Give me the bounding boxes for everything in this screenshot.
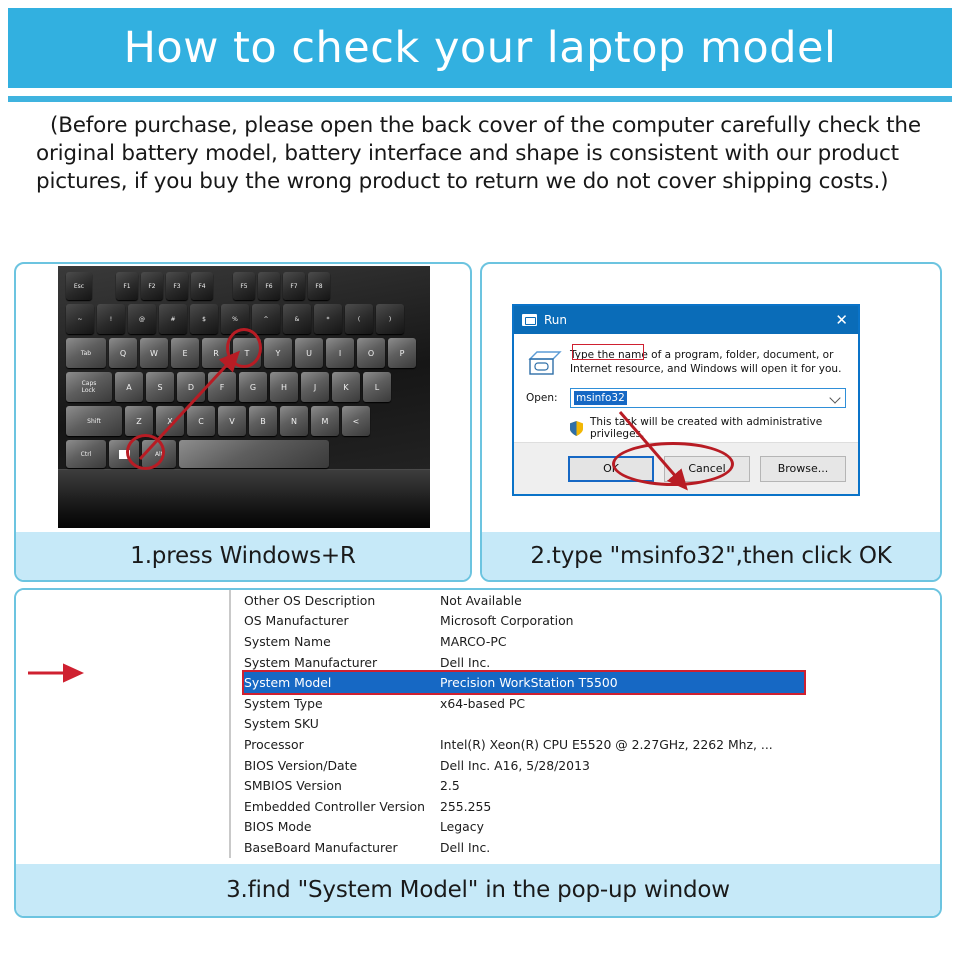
sysinfo-window: Other OS DescriptionNot AvailableOS Manu… bbox=[16, 590, 940, 864]
sysinfo-item-label: SMBIOS Version bbox=[244, 778, 440, 793]
key-u: U bbox=[295, 338, 323, 368]
keyboard-function-row: Esc F1 F2 F3 F4 F5 F6 F7 F8 bbox=[66, 272, 330, 300]
run-dialog: Run ✕ Type the name of a program, folder… bbox=[512, 304, 860, 496]
intro-text: (Before purchase, please open the back c… bbox=[36, 113, 921, 194]
key-f8: F8 bbox=[308, 272, 330, 300]
sysinfo-row[interactable]: OS ManufacturerMicrosoft Corporation bbox=[244, 611, 930, 632]
sysinfo-item-value: Precision WorkStation T5500 bbox=[440, 675, 618, 690]
key-shift: Shift bbox=[66, 406, 122, 436]
ok-button[interactable]: OK bbox=[568, 456, 654, 482]
key-tilde: ~ bbox=[66, 304, 94, 334]
sysinfo-item-value: Legacy bbox=[440, 819, 484, 834]
run-dialog-title: Run bbox=[544, 313, 567, 327]
open-combobox[interactable]: msinfo32 bbox=[570, 388, 846, 408]
cancel-button[interactable]: Cancel bbox=[664, 456, 750, 482]
key-6: ^ bbox=[252, 304, 280, 334]
sysinfo-item-value: Dell Inc. bbox=[440, 840, 490, 855]
close-icon[interactable]: ✕ bbox=[835, 310, 848, 330]
sysinfo-item-label: Embedded Controller Version bbox=[244, 799, 440, 814]
uac-text: This task will be created with administr… bbox=[590, 416, 846, 440]
step-2-image-area: Run ✕ Type the name of a program, folder… bbox=[482, 264, 940, 532]
key-esc: Esc bbox=[66, 272, 92, 300]
run-dialog-titlebar: Run ✕ bbox=[514, 306, 858, 334]
key-f2: F2 bbox=[141, 272, 163, 300]
key-o: O bbox=[357, 338, 385, 368]
sysinfo-item-value: Intel(R) Xeon(R) CPU E5520 @ 2.27GHz, 22… bbox=[440, 737, 773, 752]
key-j: J bbox=[301, 372, 329, 402]
run-program-icon bbox=[528, 350, 562, 376]
key-caps-lock: CapsLock bbox=[66, 372, 112, 402]
step-1-panel: Esc F1 F2 F3 F4 F5 F6 F7 F8 ~ ! @ # $ % bbox=[14, 262, 472, 582]
run-open-row: Open: msinfo32 bbox=[526, 388, 846, 408]
step-1-caption: 1.press Windows+R bbox=[16, 532, 470, 580]
sysinfo-row[interactable]: SMBIOS Version2.5 bbox=[244, 775, 930, 796]
key-5: % bbox=[221, 304, 249, 334]
page-title: How to check your laptop model bbox=[124, 27, 837, 70]
sysinfo-item-label: Other OS Description bbox=[244, 593, 440, 608]
key-tab: Tab bbox=[66, 338, 106, 368]
key-y: Y bbox=[264, 338, 292, 368]
keyboard-photo: Esc F1 F2 F3 F4 F5 F6 F7 F8 ~ ! @ # $ % bbox=[58, 266, 430, 528]
sysinfo-row[interactable]: BaseBoard ManufacturerDell Inc. bbox=[244, 837, 930, 858]
sysinfo-item-value: 2.5 bbox=[440, 778, 460, 793]
sysinfo-item-value: 255.255 bbox=[440, 799, 491, 814]
key-k: K bbox=[332, 372, 360, 402]
step-2-panel: Run ✕ Type the name of a program, folder… bbox=[480, 262, 942, 582]
run-dialog-content: Type the name of a program, folder, docu… bbox=[514, 334, 858, 440]
run-icon bbox=[522, 314, 537, 326]
key-f5: F5 bbox=[233, 272, 255, 300]
key-p: P bbox=[388, 338, 416, 368]
annotation-arrow-system-model bbox=[26, 662, 88, 684]
sysinfo-item-value: Not Available bbox=[440, 593, 522, 608]
sysinfo-item-value: Dell Inc. bbox=[440, 655, 490, 670]
key-2: @ bbox=[128, 304, 156, 334]
shield-icon bbox=[570, 421, 583, 436]
key-ctrl: Ctrl bbox=[66, 440, 106, 468]
key-l: L bbox=[363, 372, 391, 402]
step-3-image-area: Other OS DescriptionNot AvailableOS Manu… bbox=[16, 590, 940, 864]
key-i: I bbox=[326, 338, 354, 368]
key-f7: F7 bbox=[283, 272, 305, 300]
sysinfo-item-label: System Manufacturer bbox=[244, 655, 440, 670]
key-comma: < bbox=[342, 406, 370, 436]
key-f6: F6 bbox=[258, 272, 280, 300]
sysinfo-item-label: BIOS Mode bbox=[244, 819, 440, 834]
key-3: # bbox=[159, 304, 187, 334]
sysinfo-row[interactable]: System Typex64-based PC bbox=[244, 693, 930, 714]
sysinfo-row[interactable]: System SKU bbox=[244, 714, 930, 735]
sysinfo-row[interactable]: System ManufacturerDell Inc. bbox=[244, 652, 930, 673]
sysinfo-pane-divider bbox=[229, 590, 231, 858]
key-f1: F1 bbox=[116, 272, 138, 300]
sysinfo-item-label: System SKU bbox=[244, 716, 440, 731]
sysinfo-table: Other OS DescriptionNot AvailableOS Manu… bbox=[244, 590, 930, 858]
sysinfo-row[interactable]: ProcessorIntel(R) Xeon(R) CPU E5520 @ 2.… bbox=[244, 734, 930, 755]
run-description-row: Type the name of a program, folder, docu… bbox=[526, 346, 846, 376]
keyboard-number-row: ~ ! @ # $ % ^ & * ( ) bbox=[66, 304, 404, 334]
key-n: N bbox=[280, 406, 308, 436]
open-input-value[interactable]: msinfo32 bbox=[574, 391, 627, 405]
sysinfo-item-label: System Name bbox=[244, 634, 440, 649]
sysinfo-item-value: Dell Inc. A16, 5/28/2013 bbox=[440, 758, 590, 773]
key-f3: F3 bbox=[166, 272, 188, 300]
step-2-caption: 2.type "msinfo32",then click OK bbox=[482, 532, 940, 580]
sysinfo-item-label: BIOS Version/Date bbox=[244, 758, 440, 773]
sysinfo-item-label: Processor bbox=[244, 737, 440, 752]
sysinfo-item-label: System Type bbox=[244, 696, 440, 711]
sysinfo-row[interactable]: BIOS ModeLegacy bbox=[244, 817, 930, 838]
step-3-caption: 3.find "System Model" in the pop-up wind… bbox=[16, 864, 940, 916]
sysinfo-row[interactable]: System NameMARCO-PC bbox=[244, 631, 930, 652]
key-f4: F4 bbox=[191, 272, 213, 300]
key-4: $ bbox=[190, 304, 218, 334]
key-m: M bbox=[311, 406, 339, 436]
keyboard-palmrest bbox=[58, 469, 430, 528]
sysinfo-item-label: OS Manufacturer bbox=[244, 613, 440, 628]
step-1-image-area: Esc F1 F2 F3 F4 F5 F6 F7 F8 ~ ! @ # $ % bbox=[16, 264, 470, 532]
key-7: & bbox=[283, 304, 311, 334]
key-1: ! bbox=[97, 304, 125, 334]
sysinfo-row[interactable]: BIOS Version/DateDell Inc. A16, 5/28/201… bbox=[244, 755, 930, 776]
run-uac-row: This task will be created with administr… bbox=[570, 416, 846, 440]
key-h: H bbox=[270, 372, 298, 402]
sysinfo-item-label: BaseBoard Manufacturer bbox=[244, 840, 440, 855]
key-9: ( bbox=[345, 304, 373, 334]
header-banner: How to check your laptop model bbox=[8, 8, 952, 88]
sysinfo-row[interactable]: Other OS DescriptionNot Available bbox=[244, 590, 930, 611]
step-3-panel: Other OS DescriptionNot AvailableOS Manu… bbox=[14, 588, 942, 918]
sysinfo-item-value: x64-based PC bbox=[440, 696, 525, 711]
chevron-down-icon[interactable] bbox=[829, 392, 840, 403]
key-0: ) bbox=[376, 304, 404, 334]
run-dialog-footer: OK Cancel Browse... bbox=[514, 442, 858, 494]
key-8: * bbox=[314, 304, 342, 334]
sysinfo-item-label: System Model bbox=[244, 675, 440, 690]
annotation-box-description bbox=[572, 344, 644, 360]
header-divider-rule bbox=[8, 96, 952, 102]
sysinfo-row[interactable]: Embedded Controller Version255.255 bbox=[244, 796, 930, 817]
sysinfo-row[interactable]: System ModelPrecision WorkStation T5500 bbox=[244, 672, 804, 693]
intro-paragraph: (Before purchase, please open the back c… bbox=[36, 112, 932, 196]
sysinfo-item-value: MARCO-PC bbox=[440, 634, 507, 649]
open-label: Open: bbox=[526, 392, 570, 404]
sysinfo-item-value: Microsoft Corporation bbox=[440, 613, 574, 628]
annotation-arrow-keyboard bbox=[118, 341, 268, 466]
browse-button[interactable]: Browse... bbox=[760, 456, 846, 482]
